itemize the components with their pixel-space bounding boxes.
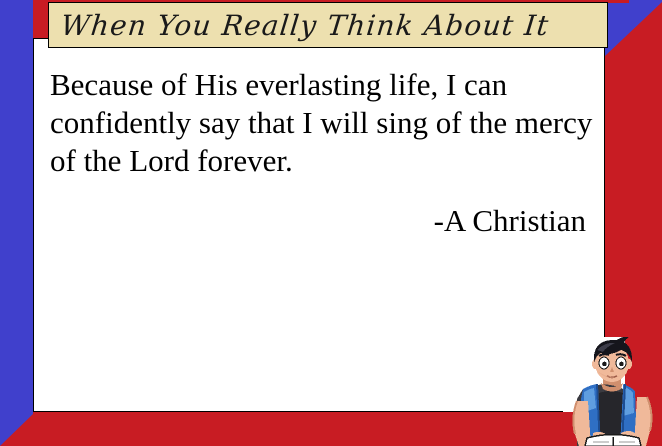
quote-text: Because of His everlasting life, I can c… bbox=[50, 66, 596, 180]
slide-canvas: When You Really Think About It Because o… bbox=[0, 0, 662, 446]
quote-attribution: -A Christian bbox=[50, 202, 586, 240]
page-title: When You Really Think About It bbox=[59, 9, 551, 42]
border-blue-left-bar bbox=[0, 0, 33, 446]
title-banner: When You Really Think About It bbox=[48, 2, 608, 48]
reading-student-character-icon bbox=[563, 337, 662, 446]
